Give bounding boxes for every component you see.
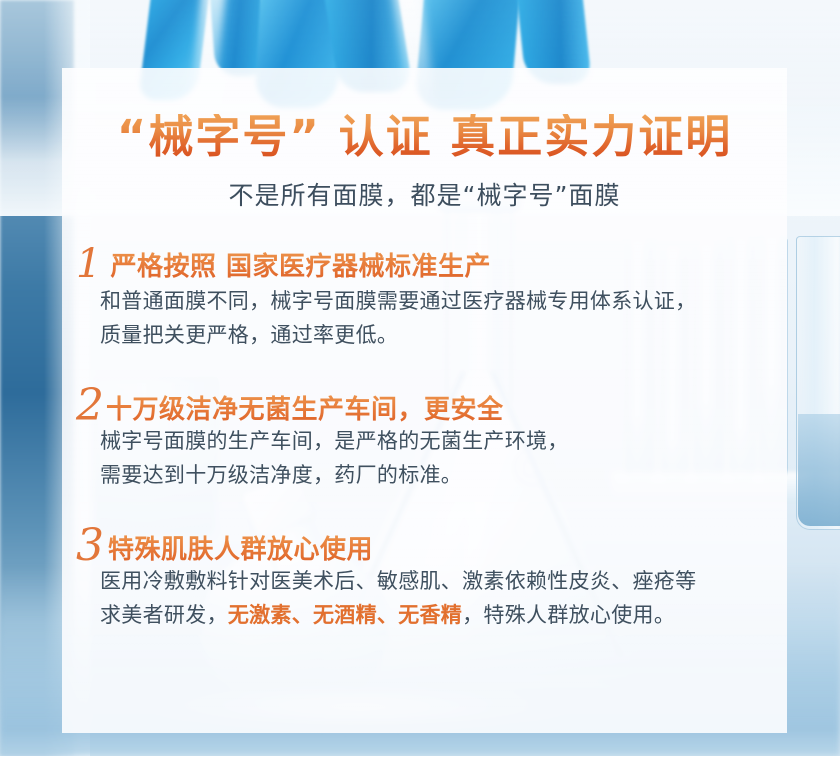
feature-heading-3: 特殊肌肤人群放心使用	[108, 529, 373, 566]
feature-body-line: 质量把关更严格，通过率更低。	[100, 318, 776, 352]
body-text-pre: 求美者研发，	[100, 603, 228, 627]
feature-number-1: 1	[76, 246, 101, 282]
feature-body-line: 医用冷敷敷料针对医美术后、敏感肌、激素依赖性皮炎、痤疮等	[100, 564, 776, 598]
feature-heading-row: 2 十万级洁净无菌生产车间，更安全	[76, 384, 776, 424]
feature-heading-1: 严格按照 国家医疗器械标准生产	[110, 246, 491, 283]
feature-number-2: 2	[76, 386, 104, 426]
feature-number-3: 3	[76, 526, 104, 566]
feature-section-2: 2 十万级洁净无菌生产车间，更安全 械字号面膜的生产车间，是严格的无菌生产环境，…	[76, 384, 776, 492]
body-text-highlight: 无激素、无酒精、无香精	[228, 603, 462, 627]
poster-canvas: “械字号” 认证 真正实力证明 不是所有面膜，都是“械字号”面膜 1 严格按照 …	[0, 0, 840, 780]
feature-body-line: 需要达到十万级洁净度，药厂的标准。	[100, 458, 776, 492]
content-layer: “械字号” 认证 真正实力证明 不是所有面膜，都是“械字号”面膜 1 严格按照 …	[62, 68, 787, 733]
page-title: “械字号” 认证 真正实力证明	[62, 114, 787, 159]
body-text-post: ，特殊人群放心使用。	[462, 603, 675, 627]
feature-body-line-rich: 求美者研发，无激素、无酒精、无香精，特殊人群放心使用。	[100, 598, 776, 632]
feature-heading-row: 3 特殊肌肤人群放心使用	[76, 524, 776, 564]
feature-body-line: 和普通面膜不同，械字号面膜需要通过医疗器械专用体系认证，	[100, 284, 776, 318]
feature-section-3: 3 特殊肌肤人群放心使用 医用冷敷敷料针对医美术后、敏感肌、激素依赖性皮炎、痤疮…	[76, 524, 776, 632]
feature-body-line: 械字号面膜的生产车间，是严格的无菌生产环境，	[100, 424, 776, 458]
page-subtitle: 不是所有面膜，都是“械字号”面膜	[62, 176, 787, 212]
bottom-white-strip	[0, 756, 840, 780]
feature-section-1: 1 严格按照 国家医疗器械标准生产 和普通面膜不同，械字号面膜需要通过医疗器械专…	[76, 244, 776, 352]
feature-heading-2: 十万级洁净无菌生产车间，更安全	[106, 389, 504, 426]
feature-heading-row: 1 严格按照 国家医疗器械标准生产	[76, 244, 776, 284]
